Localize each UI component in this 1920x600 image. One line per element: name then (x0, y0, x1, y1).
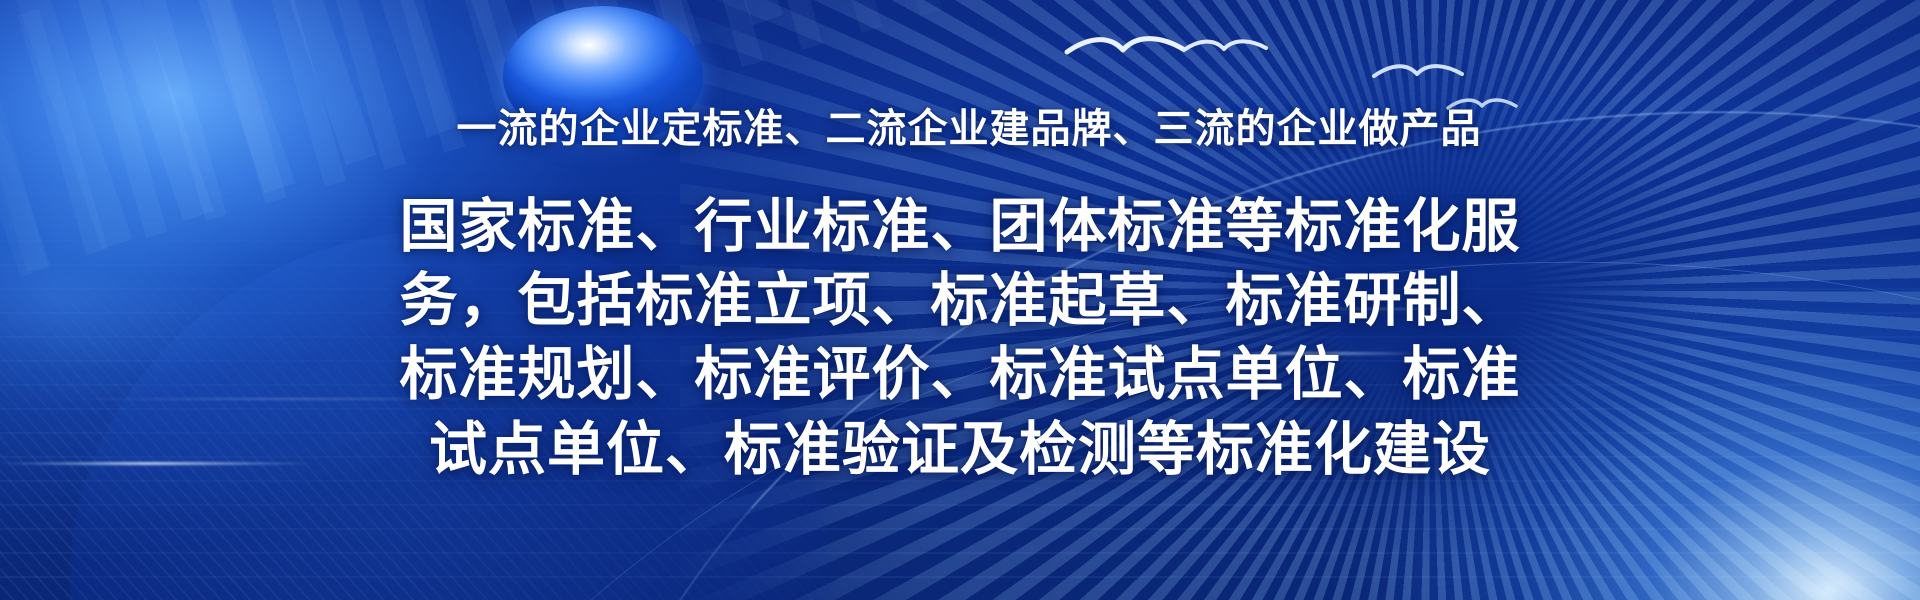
banner-headline: 一流的企业定标准、二流企业建品牌、三流的企业做产品 (457, 104, 1482, 154)
banner-body-line: 试点单位、标准验证及检测等标准化建设 (330, 413, 1590, 487)
banner-body-line: 务，包括标准立项、标准起草、标准研制、 (330, 264, 1590, 338)
promo-banner: 一流的企业定标准、二流企业建品牌、三流的企业做产品 国家标准、行业标准、团体标准… (0, 0, 1920, 600)
banner-body: 国家标准、行业标准、团体标准等标准化服 务，包括标准立项、标准起草、标准研制、 … (330, 190, 1590, 487)
banner-body-line: 国家标准、行业标准、团体标准等标准化服 (330, 190, 1590, 264)
banner-text-stack: 一流的企业定标准、二流企业建品牌、三流的企业做产品 国家标准、行业标准、团体标准… (0, 0, 1920, 600)
banner-body-line: 标准规划、标准评价、标准试点单位、标准 (330, 338, 1590, 412)
